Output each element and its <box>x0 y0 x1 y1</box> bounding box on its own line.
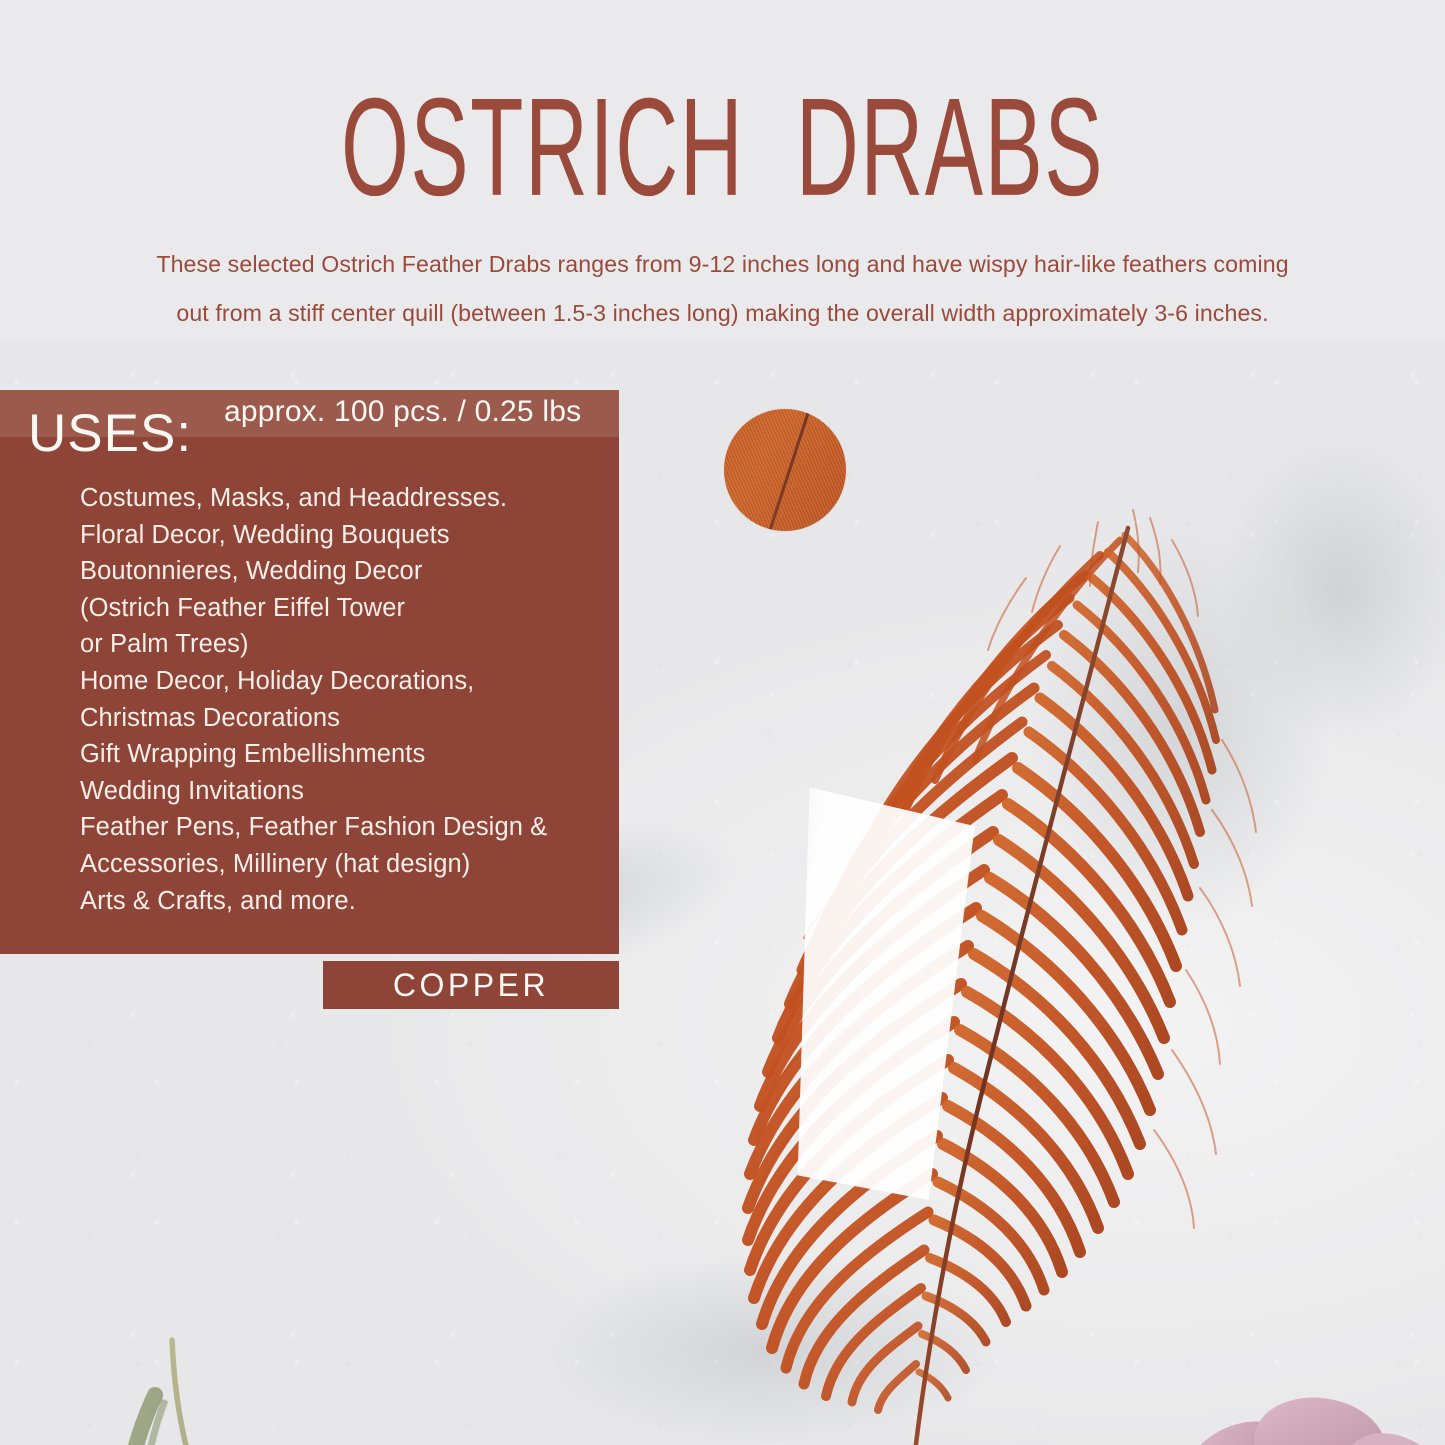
list-item: Boutonnieres, Wedding Decor <box>80 553 620 590</box>
list-item: Home Decor, Holiday Decorations, <box>80 663 620 700</box>
title-part-2: DRABS <box>796 70 1104 226</box>
list-item: Accessories, Millinery (hat design) <box>80 846 620 883</box>
title-part-1: OSTRICH <box>341 70 744 226</box>
list-item: or Palm Trees) <box>80 626 620 663</box>
list-item: Costumes, Masks, and Headdresses. <box>80 480 620 517</box>
list-item: Christmas Decorations <box>80 700 620 737</box>
magnifier-quill-line <box>740 409 833 531</box>
feather-detail-magnifier <box>724 409 846 531</box>
magnifier-feather-texture <box>724 409 846 531</box>
quantity-label: approx. 100 pcs. / 0.25 lbs <box>224 397 581 427</box>
list-item: Wedding Invitations <box>80 773 620 810</box>
page-title: OSTRICH DRABS <box>188 78 1257 217</box>
uses-list: Costumes, Masks, and Headdresses. Floral… <box>80 480 620 919</box>
list-item: (Ostrich Feather Eiffel Tower <box>80 590 620 627</box>
list-item: Gift Wrapping Embellishments <box>80 736 620 773</box>
list-item: Floral Decor, Wedding Bouquets <box>80 517 620 554</box>
uses-heading: USES: <box>28 407 192 460</box>
subtitle-line-2: out from a stiff center quill (between 1… <box>60 289 1385 338</box>
page-subtitle: These selected Ostrich Feather Drabs ran… <box>60 240 1385 338</box>
list-item: Arts & Crafts, and more. <box>80 883 620 920</box>
subtitle-line-1: These selected Ostrich Feather Drabs ran… <box>60 240 1385 289</box>
header: OSTRICH DRABS These selected Ostrich Fea… <box>0 0 1445 340</box>
list-item: Feather Pens, Feather Fashion Design & <box>80 809 620 846</box>
infographic-canvas: OSTRICH DRABS These selected Ostrich Fea… <box>0 0 1445 1445</box>
